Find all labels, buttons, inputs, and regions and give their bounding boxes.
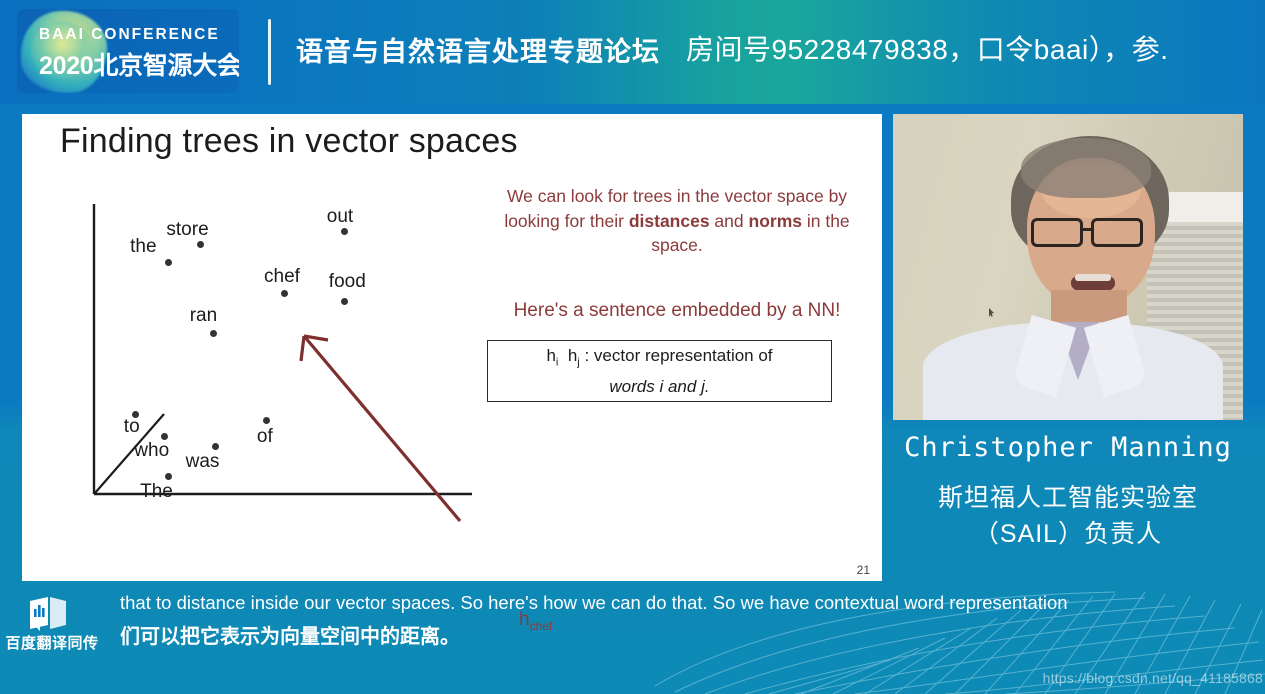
logo-line-1: BAAI CONFERENCE [39, 26, 235, 44]
formula-h-j: h [568, 346, 577, 365]
scatter-point [212, 443, 219, 450]
header-ticker-text: 房间号95228479838，口令baai），参. [686, 28, 1256, 68]
watermark-url: https://blog.csdn.net/qq_41185868 [1043, 670, 1263, 686]
scatter-point [161, 433, 168, 440]
speaker-organization: 斯坦福人工智能实验室 （SAIL）负责人 [893, 480, 1243, 552]
p1-bold-distances: distances [629, 211, 710, 231]
header-divider [268, 19, 271, 85]
slide-area[interactable]: Finding trees in vector spaces outstoret… [22, 114, 882, 581]
forum-title: 语音与自然语言处理专题论坛 [296, 30, 660, 69]
baidu-translate-icon [26, 595, 70, 631]
scatter-point-label: ran [190, 305, 217, 327]
scatter-point-label: who [134, 440, 169, 462]
glasses-lens-right [1091, 218, 1143, 247]
scatter-point-label: was [186, 451, 220, 473]
slide-page-number: 21 [857, 563, 870, 577]
presentation-viewer: BAAI CONFERENCE 2020北京智源大会 语音与自然语言处理专题论坛… [0, 0, 1265, 694]
subtitle-chinese: 们可以把它表示为向量空间中的距离。 [120, 620, 1160, 649]
glasses-lens-left [1031, 218, 1083, 247]
scatter-point-label: The [140, 481, 173, 503]
formula-text: hi hj : vector representation of words i… [546, 344, 772, 397]
baai-conference-logo: BAAI CONFERENCE 2020北京智源大会 [17, 9, 239, 93]
speaker-org-line-2: （SAIL）负责人 [893, 516, 1243, 552]
speaker-org-line-1: 斯坦福人工智能实验室 [893, 480, 1243, 516]
slide-paragraph-1: We can look for trees in the vector spac… [482, 184, 872, 258]
scatter-point-label: to [124, 416, 140, 438]
scatter-point [210, 330, 217, 337]
logo-text-group: BAAI CONFERENCE 2020北京智源大会 [39, 26, 235, 82]
vector-space-scatter-plot: outstorethecheffoodrantoofwhowasThe [82, 194, 502, 564]
scatter-point-label: the [130, 236, 156, 258]
formula-line-2: words i and j. [609, 377, 709, 396]
scatter-point-label: chef [264, 266, 300, 288]
scatter-point [281, 290, 288, 297]
scatter-point [263, 417, 270, 424]
scatter-point [341, 298, 348, 305]
speaker-video-feed[interactable] [893, 114, 1243, 420]
formula-sub-j: j [577, 357, 579, 369]
slide-paragraph-2: Here's a sentence embedded by a NN! [482, 299, 872, 324]
scatter-point [165, 473, 172, 480]
formula-rest: : vector representation of [584, 346, 772, 365]
p1-part2: and [710, 211, 749, 231]
subtitle-english: that to distance inside our vector space… [120, 592, 1160, 614]
scatter-point-label: of [257, 426, 273, 448]
speaker-name: Christopher Manning [893, 432, 1243, 463]
slide-title: Finding trees in vector spaces [60, 122, 518, 161]
formula-h-i: h [546, 346, 555, 365]
p1-bold-norms: norms [749, 211, 802, 231]
conference-header-bar: BAAI CONFERENCE 2020北京智源大会 语音与自然语言处理专题论坛… [0, 0, 1265, 104]
scatter-point-label: out [327, 206, 353, 228]
scatter-point [165, 259, 172, 266]
scatter-point [197, 241, 204, 248]
baidu-translate-label: 百度翻译同传 [0, 632, 106, 653]
speaker-hair-highlight [1021, 138, 1151, 198]
formula-callout-box: hi hj : vector representation of words i… [487, 340, 832, 402]
scatter-point-label: food [329, 271, 366, 293]
formula-sub-i: i [556, 357, 558, 369]
subtitle-bar: 百度翻译同传 that to distance inside our vecto… [0, 590, 1265, 694]
speaker-glasses [1031, 218, 1153, 248]
scatter-point-label: store [166, 219, 208, 241]
logo-line-2: 2020北京智源大会 [39, 46, 235, 82]
speaker-teeth [1075, 274, 1111, 281]
